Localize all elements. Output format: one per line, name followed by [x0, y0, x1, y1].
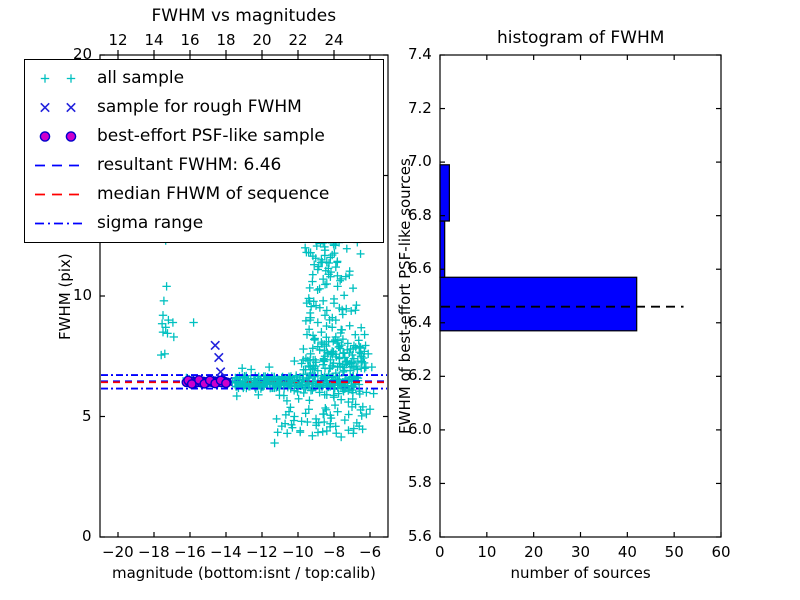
xtick-label-bottom: −10 [282, 543, 314, 561]
hist-ytick-label: 5.8 [408, 473, 432, 491]
hist-ytick-label: 7.4 [408, 45, 432, 63]
ytick-label-left: 0 [82, 527, 92, 545]
xtick-label-bottom: −16 [174, 543, 206, 561]
legend-label: all sample [97, 64, 184, 93]
ytick-label-left: 10 [73, 286, 92, 304]
legend-marker-cross-icon [25, 93, 97, 122]
legend-item-2: best-effort PSF-like sample [25, 122, 375, 151]
legend-marker-dashdot-line-icon [25, 209, 97, 238]
hist-xtick-label: 10 [477, 543, 496, 561]
hist-xtick-label: 40 [618, 543, 637, 561]
legend-marker-plus-icon [25, 64, 97, 93]
legend-label: sigma range [97, 209, 203, 238]
hist-xtick-label: 50 [665, 543, 684, 561]
histogram-xaxis-label: number of sources [511, 564, 651, 582]
xtick-label-top: 18 [217, 31, 236, 49]
legend-item-1: sample for rough FWHM [25, 93, 375, 122]
matplotlib-figure: −20−18−16−14−12−10−8−6121416182022240510… [0, 0, 800, 600]
scatter-plot-title: FWHM vs magnitudes [152, 6, 337, 26]
legend-label: resultant FWHM: 6.46 [97, 151, 281, 180]
scatter-xaxis-label: magnitude (bottom:isnt / top:calib) [112, 564, 376, 582]
legend-item-4: median FHWM of sequence [25, 180, 375, 209]
legend-item-3: resultant FWHM: 6.46 [25, 151, 375, 180]
xtick-label-bottom: −6 [359, 543, 381, 561]
histogram-plot-title: histogram of FWHM [497, 28, 664, 48]
xtick-label-bottom: −14 [210, 543, 242, 561]
legend-marker-dashed-line-icon [25, 180, 97, 209]
series-all-sample [157, 234, 378, 447]
legend-box: all samplesample for rough FWHMbest-effo… [24, 59, 384, 243]
hist-xtick-label: 0 [435, 543, 445, 561]
xtick-label-top: 14 [145, 31, 164, 49]
xtick-label-top: 22 [289, 31, 308, 49]
legend-marker-circle-icon [25, 122, 97, 151]
xtick-label-bottom: −18 [138, 543, 170, 561]
scatter-yaxis-label: FWHM (pix) [56, 253, 74, 340]
xtick-label-top: 20 [253, 31, 272, 49]
legend-marker-dashed-line-icon [25, 151, 97, 180]
hist-xtick-label: 30 [571, 543, 590, 561]
xtick-label-top: 16 [181, 31, 200, 49]
hist-ytick-label: 7.2 [408, 99, 432, 117]
xtick-label-bottom: −8 [323, 543, 345, 561]
xtick-label-top: 24 [325, 31, 344, 49]
hist-ytick-label: 5.6 [408, 527, 432, 545]
series-best-effort-PSF-like-sample [182, 376, 231, 388]
legend-label: sample for rough FWHM [97, 93, 302, 122]
hist-xtick-label: 60 [712, 543, 731, 561]
xtick-label-bottom: −12 [246, 543, 278, 561]
histogram-yaxis-label: FWHM of best-effort PSF-like sources [396, 158, 414, 434]
legend-item-0: all sample [25, 64, 375, 93]
ytick-label-left: 5 [82, 407, 92, 425]
hist-xtick-label: 20 [524, 543, 543, 561]
xtick-label-bottom: −20 [102, 543, 134, 561]
xtick-label-top: 12 [109, 31, 128, 49]
legend-label: best-effort PSF-like sample [97, 122, 325, 151]
legend-label: median FHWM of sequence [97, 180, 329, 209]
legend-item-5: sigma range [25, 209, 375, 238]
